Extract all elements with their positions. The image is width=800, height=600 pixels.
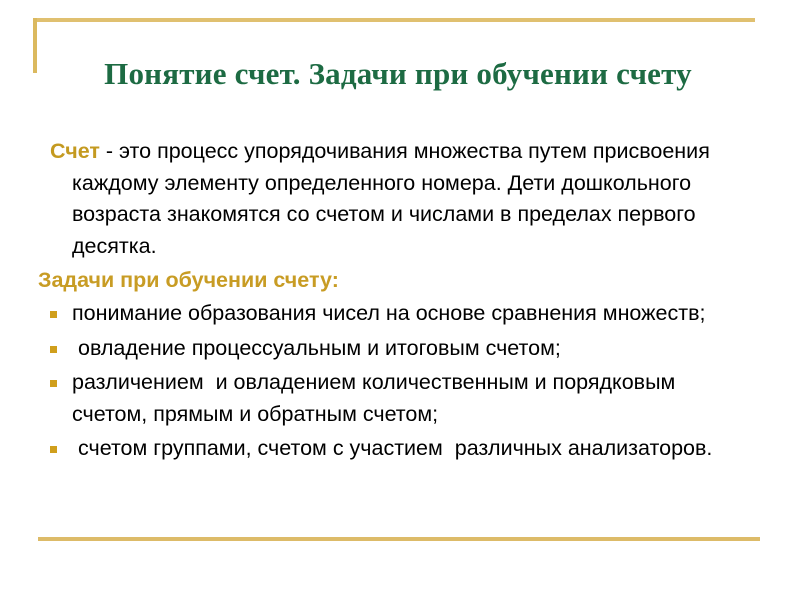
definition-paragraph: Счет - это процесс упорядочивания множес… <box>0 136 800 262</box>
square-bullet-icon <box>50 446 57 453</box>
section-heading: Задачи при обучении счету: <box>0 264 800 296</box>
list-item: понимание образования чисел на основе ср… <box>0 298 800 330</box>
slide-body: Счет - это процесс упорядочивания множес… <box>0 136 800 468</box>
bottom-gold-rule <box>38 537 760 541</box>
page-title: Понятие счет. Задачи при обучении счету <box>40 53 756 95</box>
task-list: понимание образования чисел на основе ср… <box>0 298 800 465</box>
square-bullet-icon <box>50 346 57 353</box>
list-item: овладение процессуальным и итоговым счет… <box>0 333 800 365</box>
list-item-label: понимание образования чисел на основе ср… <box>72 298 748 330</box>
slide: Понятие счет. Задачи при обучении счету … <box>0 0 800 600</box>
list-item-label: счетом группами, счетом с участием разли… <box>72 433 748 465</box>
left-gold-rule <box>33 18 37 73</box>
definition-text: - это процесс упорядочивания множества п… <box>72 139 710 258</box>
square-bullet-icon <box>50 311 57 318</box>
list-item: различением и овладением количественным … <box>0 367 800 430</box>
list-item-label: различением и овладением количественным … <box>72 367 748 430</box>
list-item-label: овладение процессуальным и итоговым счет… <box>72 333 748 365</box>
definition-term: Счет <box>50 139 100 163</box>
square-bullet-icon <box>50 380 57 387</box>
list-item: счетом группами, счетом с участием разли… <box>0 433 800 465</box>
top-gold-rule <box>33 18 755 22</box>
